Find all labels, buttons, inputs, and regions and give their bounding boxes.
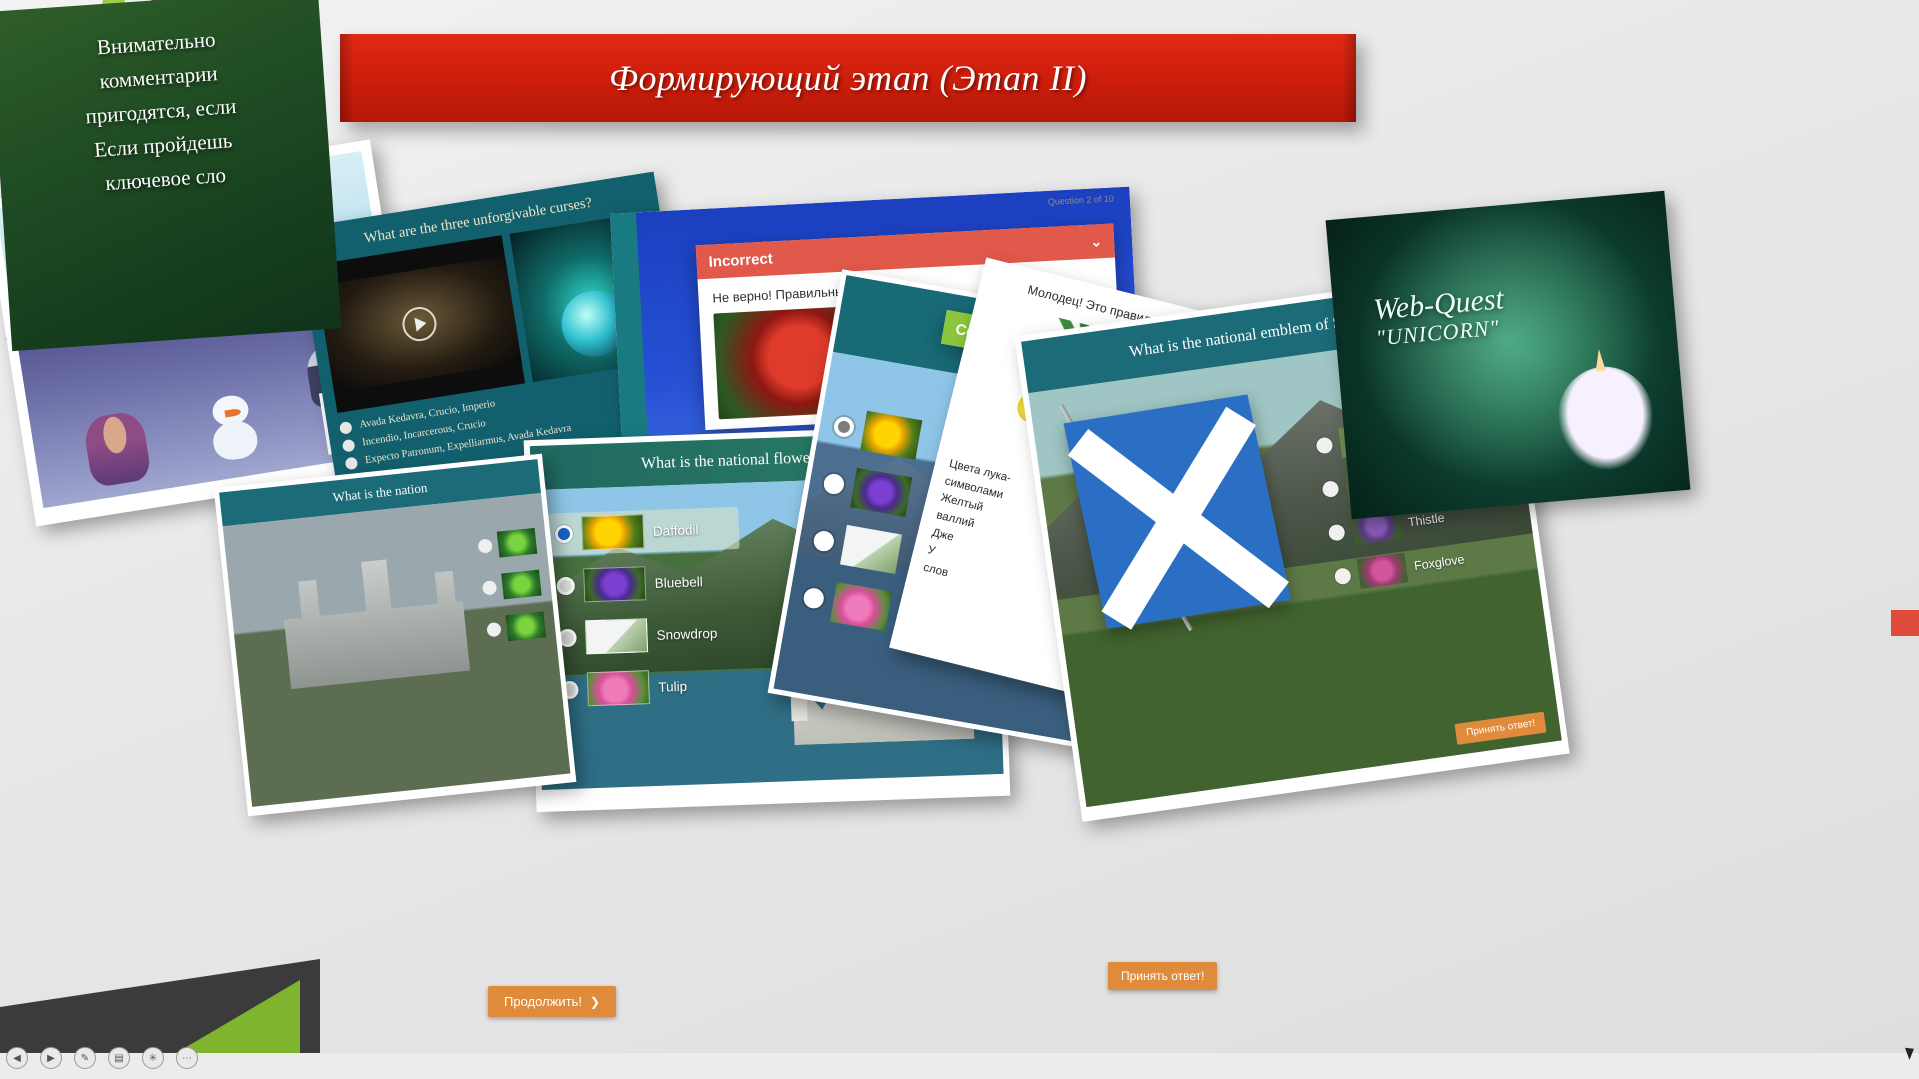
foxglove-thumbnail-icon	[1357, 552, 1409, 588]
accept-answer-button[interactable]: Принять ответ!	[1108, 962, 1217, 990]
radio-icon[interactable]	[1334, 567, 1352, 585]
shamrock-thumbnail-icon	[497, 528, 538, 558]
continue-button-label: Продолжить!	[504, 994, 582, 1009]
chevron-right-icon: ❯	[590, 995, 600, 1009]
radio-icon-selected[interactable]	[555, 525, 574, 544]
slide-instructions[interactable]: Внимательно комментарии пригодятся, если…	[0, 0, 341, 351]
chevron-down-icon[interactable]: ⌄	[1090, 233, 1103, 251]
olaf-character-icon[interactable]	[202, 392, 264, 465]
ruins-option-row[interactable]	[486, 611, 546, 643]
background-bottom-bar	[0, 1053, 1919, 1079]
scotland-accept-button[interactable]: Принять ответ!	[1455, 712, 1547, 745]
ruins-options-list	[477, 528, 548, 659]
bluebell-thumbnail-icon	[583, 566, 646, 602]
slides-button[interactable]: ▤	[108, 1047, 130, 1069]
castle-ruins-image	[278, 542, 471, 690]
radio-icon[interactable]	[1315, 436, 1333, 454]
radio-icon[interactable]	[478, 538, 493, 553]
radio-icon[interactable]	[802, 587, 825, 610]
radio-icon[interactable]	[556, 577, 575, 596]
page-title: Формирующий этап (Этап II)	[609, 57, 1087, 99]
unicorn-title: Web-Quest "UNICORN"	[1372, 283, 1507, 349]
hp-video-thumbnail[interactable]	[314, 235, 525, 413]
ruins-option-row[interactable]	[477, 528, 537, 560]
radio-icon[interactable]	[822, 472, 845, 495]
tulip-thumbnail-icon	[830, 582, 892, 631]
red-edge-tab	[1891, 610, 1919, 636]
snowdrop-thumbnail-icon	[585, 618, 648, 654]
continue-button[interactable]: Продолжить! ❯	[488, 986, 616, 1017]
slides-icon: ▤	[114, 1053, 123, 1064]
radio-icon[interactable]	[345, 456, 359, 470]
forest-glow-background	[1326, 191, 1691, 519]
shamrock-thumbnail-icon	[501, 570, 542, 600]
ruins-body	[223, 493, 571, 807]
radio-icon[interactable]	[1322, 480, 1340, 498]
wales-option-label: Snowdrop	[656, 625, 717, 642]
ruins-option-row[interactable]	[481, 570, 541, 602]
radio-icon[interactable]	[339, 421, 353, 435]
radio-icon[interactable]	[342, 439, 356, 453]
wales-option-row[interactable]: Tulip	[554, 663, 745, 712]
previous-icon: ◀	[13, 1053, 21, 1064]
scotland-option-row[interactable]: Foxglove	[1333, 536, 1525, 592]
radio-icon[interactable]	[486, 622, 501, 637]
previous-slide-button[interactable]: ◀	[6, 1047, 28, 1069]
slide-unicorn-webquest[interactable]: Web-Quest "UNICORN"	[1326, 191, 1691, 519]
radio-icon[interactable]	[1328, 524, 1346, 542]
more-icon: ⋯	[182, 1053, 192, 1064]
daffodil-thumbnail-icon	[860, 411, 922, 460]
ruins-question: What is the nation	[332, 480, 428, 506]
more-options-button[interactable]: ⋯	[176, 1047, 198, 1069]
play-button[interactable]: ▶	[40, 1047, 62, 1069]
snowdrop-thumbnail-icon	[840, 525, 902, 574]
correct-option-row[interactable]	[800, 577, 892, 631]
wales-option-label: Tulip	[658, 678, 687, 694]
wales-option-label: Daffodil	[653, 522, 699, 539]
slide-ireland-quiz[interactable]: What is the nation	[214, 454, 577, 817]
pen-icon: ✎	[81, 1053, 89, 1064]
correct-option-row[interactable]	[810, 520, 902, 574]
incorrect-dialog-title: Incorrect	[708, 250, 773, 270]
radio-icon[interactable]	[482, 580, 497, 595]
shamrock-thumbnail-icon	[506, 611, 547, 641]
wales-option-label: Bluebell	[654, 574, 703, 591]
tulip-thumbnail-icon	[587, 670, 650, 706]
bluebell-thumbnail-icon	[850, 468, 912, 517]
anna-character-icon	[82, 410, 152, 489]
wales-options-list: Daffodil Bluebell Snowdrop Tulip	[548, 507, 745, 722]
play-icon: ▶	[47, 1053, 55, 1064]
pointer-button[interactable]: ✳	[142, 1047, 164, 1069]
correct-option-row[interactable]	[821, 463, 913, 517]
wales-option-row[interactable]: Bluebell	[550, 559, 741, 608]
pointer-icon: ✳	[149, 1053, 157, 1064]
wales-option-row[interactable]: Snowdrop	[552, 611, 743, 660]
radio-icon-selected[interactable]	[832, 415, 855, 438]
scotland-option-label: Foxglove	[1413, 552, 1465, 573]
presentation-toolbar[interactable]: ◀ ▶ ✎ ▤ ✳ ⋯	[6, 1047, 198, 1069]
mouse-cursor	[1907, 1046, 1917, 1062]
radio-icon[interactable]	[812, 530, 835, 553]
wales-option-row[interactable]: Daffodil	[548, 507, 739, 556]
pen-button[interactable]: ✎	[74, 1047, 96, 1069]
daffodil-thumbnail-icon	[581, 514, 644, 550]
page-title-banner: Формирующий этап (Этап II)	[340, 34, 1356, 122]
